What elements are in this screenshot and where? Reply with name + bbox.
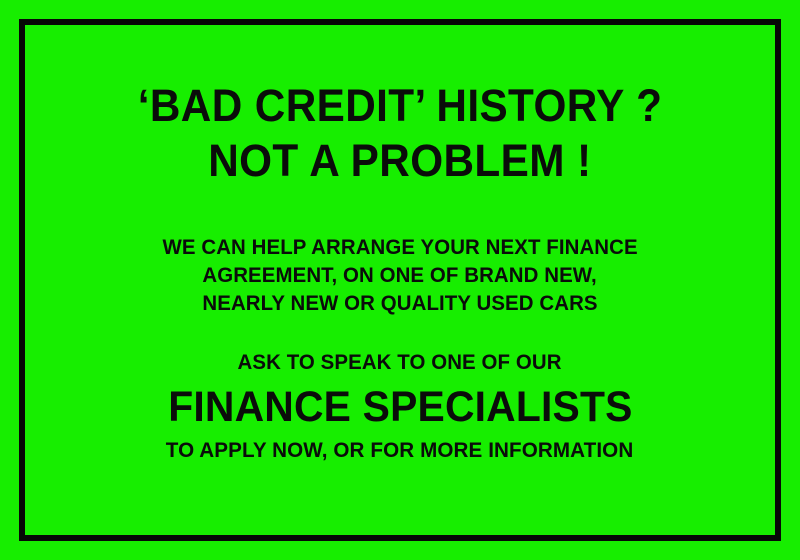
headline-line-2: NOT A PROBLEM !: [208, 133, 591, 188]
call-to-action-block: ASK TO SPEAK TO ONE OF OUR FINANCE SPECI…: [156, 347, 645, 464]
body-line-2: AGREEMENT, ON ONE OF BRAND NEW,: [203, 261, 597, 289]
body-line-1: WE CAN HELP ARRANGE YOUR NEXT FINANCE: [162, 233, 637, 261]
headline-block: ‘BAD CREDIT’ HISTORY ? NOT A PROBLEM !: [121, 78, 679, 188]
body-paragraph: WE CAN HELP ARRANGE YOUR NEXT FINANCE AG…: [150, 233, 650, 317]
cta-footer-text: TO APPLY NOW, OR FOR MORE INFORMATION: [166, 436, 634, 464]
cta-headline-text: FINANCE SPECIALISTS: [168, 381, 632, 433]
advertisement-poster: ‘BAD CREDIT’ HISTORY ? NOT A PROBLEM ! W…: [0, 0, 800, 560]
poster-content: ‘BAD CREDIT’ HISTORY ? NOT A PROBLEM ! W…: [25, 25, 775, 535]
headline-line-1: ‘BAD CREDIT’ HISTORY ?: [138, 78, 663, 133]
body-line-3: NEARLY NEW OR QUALITY USED CARS: [202, 289, 597, 317]
cta-lead-text: ASK TO SPEAK TO ONE OF OUR: [238, 347, 562, 377]
